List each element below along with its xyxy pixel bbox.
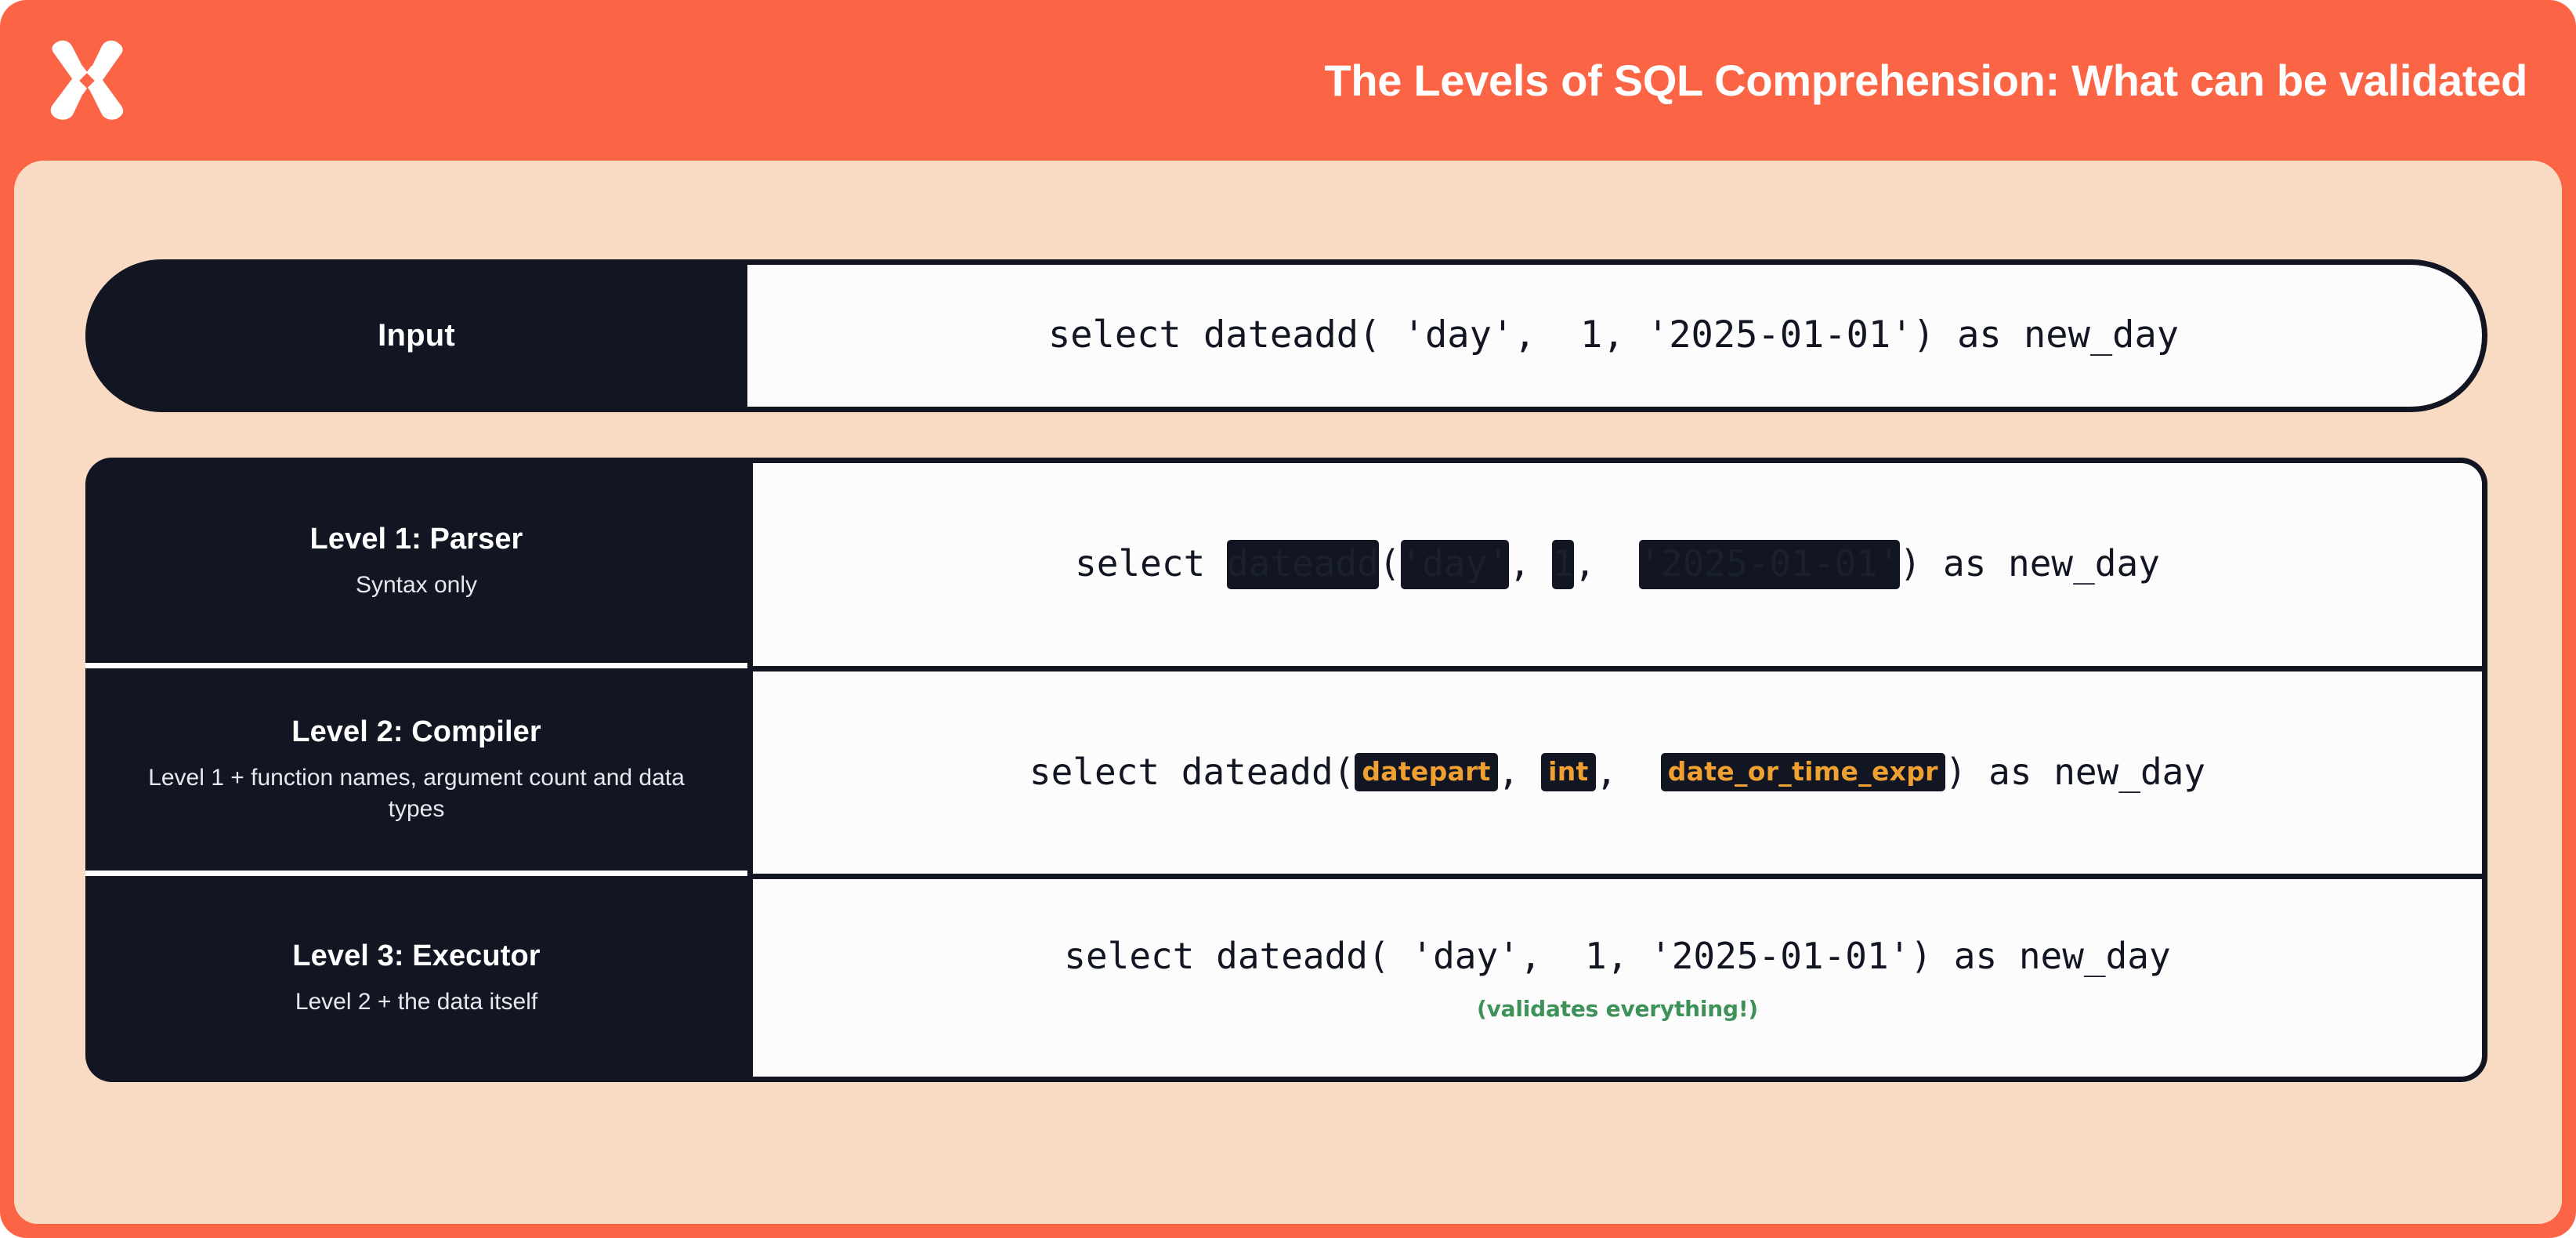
- level-1-subtitle: Syntax only: [356, 570, 477, 601]
- code-segment: ,: [1509, 542, 1552, 585]
- level-1-title: Level 1: Parser: [310, 522, 523, 557]
- redacted-arg-3: '2025-01-01': [1639, 540, 1899, 590]
- input-code-cell: select dateadd( 'day', 1, '2025-01-01') …: [740, 259, 2487, 412]
- redacted-function-name: dateadd: [1227, 540, 1379, 590]
- redacted-arg-1: 'day': [1401, 540, 1509, 590]
- level-3-code: select dateadd( 'day', 1, '2025-01-01') …: [1064, 934, 2170, 979]
- type-token-datepart: datepart: [1355, 753, 1497, 791]
- level-3-subtitle: Level 2 + the data itself: [295, 986, 537, 1018]
- level-3-label-cell: Level 3: Executor Level 2 + the data its…: [85, 874, 747, 1082]
- input-code: select dateadd( 'day', 1, '2025-01-01') …: [1048, 313, 2179, 359]
- type-token-date-or-time-expr: date_or_time_expr: [1661, 753, 1945, 791]
- level-2-code-cell: select dateadd(datepart, int, date_or_ti…: [747, 666, 2487, 874]
- body-panel: Input select dateadd( 'day', 1, '2025-01…: [14, 161, 2562, 1224]
- level-row: Level 3: Executor Level 2 + the data its…: [85, 874, 2487, 1082]
- level-3-title: Level 3: Executor: [292, 939, 540, 974]
- input-label: Input: [378, 318, 455, 353]
- code-segment: select dateadd(: [1029, 751, 1355, 793]
- levels-card: Level 1: Parser Syntax only select datea…: [85, 458, 2487, 1082]
- level-2-code: select dateadd(datepart, int, date_or_ti…: [1029, 750, 2205, 795]
- level-1-code-cell: select dateadd('day', 1, '2025-01-01') a…: [747, 458, 2487, 666]
- code-segment: ,: [1596, 751, 1661, 793]
- level-row: Level 2: Compiler Level 1 + function nam…: [85, 666, 2487, 874]
- level-2-subtitle: Level 1 + function names, argument count…: [143, 762, 691, 825]
- code-segment: ,: [1498, 751, 1541, 793]
- input-row: Input select dateadd( 'day', 1, '2025-01…: [85, 259, 2487, 412]
- type-token-int: int: [1541, 753, 1595, 791]
- x-mark-logo-icon: [39, 33, 135, 129]
- level-1-code: select dateadd('day', 1, '2025-01-01') a…: [1075, 540, 2160, 590]
- code-segment: ) as new_day: [1945, 751, 2205, 793]
- code-segment: select: [1075, 542, 1227, 585]
- level-1-label-cell: Level 1: Parser Syntax only: [85, 458, 747, 666]
- level-row: Level 1: Parser Syntax only select datea…: [85, 458, 2487, 666]
- page-title: The Levels of SQL Comprehension: What ca…: [1324, 55, 2527, 106]
- infographic-frame: The Levels of SQL Comprehension: What ca…: [0, 0, 2576, 1238]
- code-segment: (: [1379, 542, 1401, 585]
- code-segment: ,: [1574, 542, 1639, 585]
- validates-note: (validates everything!): [1477, 996, 1758, 1022]
- code-segment: ) as new_day: [1900, 542, 2160, 585]
- input-label-cell: Input: [85, 259, 747, 412]
- redacted-arg-2: 1: [1552, 540, 1574, 590]
- level-3-code-cell: select dateadd( 'day', 1, '2025-01-01') …: [747, 874, 2487, 1082]
- level-2-label-cell: Level 2: Compiler Level 1 + function nam…: [85, 666, 747, 874]
- header-bar: The Levels of SQL Comprehension: What ca…: [0, 0, 2576, 161]
- level-2-title: Level 2: Compiler: [291, 715, 541, 750]
